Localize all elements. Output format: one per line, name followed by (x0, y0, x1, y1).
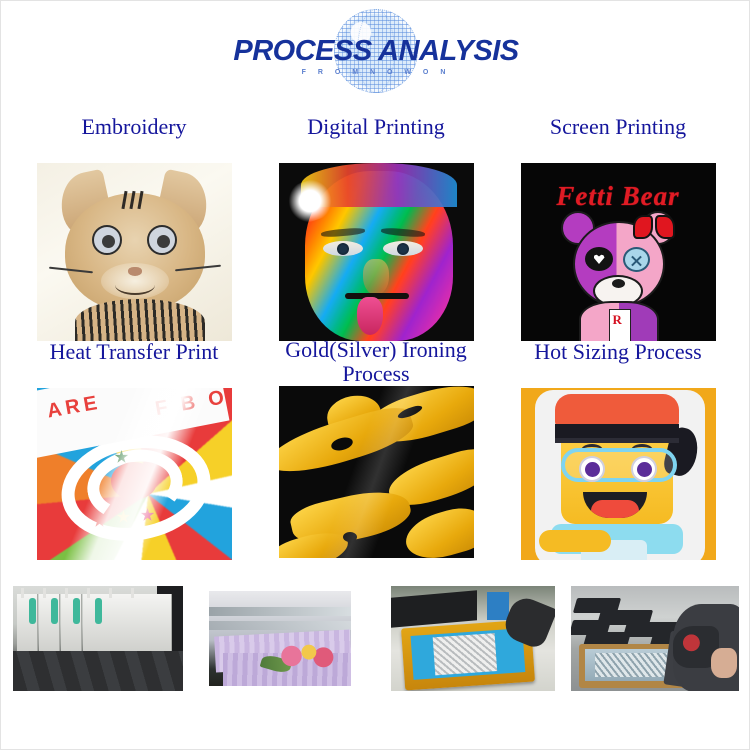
cat-eye-left (92, 225, 122, 255)
photo-blue-object (487, 592, 509, 620)
character-mouth (583, 492, 647, 518)
portrait-pupil (397, 243, 409, 255)
process-card-digital-printing[interactable]: Digital Printing (251, 113, 501, 341)
process-image-heat-transfer: ARE F B O (37, 388, 232, 560)
page-title: PROCESS ANALYSIS (216, 37, 536, 66)
fabric-fold-highlight (37, 388, 232, 560)
bear-bow-icon (633, 215, 675, 241)
character-cap (555, 394, 679, 426)
photo-fabric (13, 651, 183, 691)
portrait-pupil (337, 243, 349, 255)
character-eye-left (579, 456, 605, 482)
factory-photo-strip (1, 586, 750, 701)
portrait-nose (363, 259, 389, 295)
process-card-screen-printing[interactable]: Screen Printing Fetti Bear R (493, 113, 743, 341)
portrait-eye-right (383, 241, 423, 256)
photo-stencil-art (595, 653, 667, 677)
factory-photo-digital-printer[interactable] (209, 591, 351, 686)
portrait-lip (357, 297, 383, 335)
process-card-heat-transfer-print[interactable]: Heat Transfer Print ARE F B O (9, 338, 259, 560)
portrait-eye-left (323, 241, 363, 256)
bear-eye-left (585, 247, 613, 271)
process-title: Screen Printing (493, 113, 743, 163)
x-cross-icon (630, 254, 643, 267)
process-card-embroidery[interactable]: Embroidery (9, 113, 259, 341)
process-card-gold-ironing[interactable]: Gold(Silver) Ironing Process (251, 338, 501, 558)
heart-icon (594, 254, 605, 264)
character-glasses (561, 448, 677, 482)
factory-photo-screen-frame[interactable] (391, 586, 555, 691)
photo-worker-hand (711, 648, 737, 678)
character-eye-right (631, 456, 657, 482)
print-text-fetti-bear: Fetti Bear (521, 181, 716, 212)
process-image-screen-printing: Fetti Bear R (521, 163, 716, 341)
bear-badge: R (609, 309, 631, 341)
process-image-gold-ironing (279, 386, 474, 558)
character-headband-stripe (555, 438, 679, 443)
brand-logo: PROCESS ANALYSIS F R O M N O W O N (216, 9, 536, 97)
fabric-sheen (279, 386, 474, 558)
character-arm (539, 530, 611, 552)
cat-pupil (157, 235, 170, 248)
process-card-hot-sizing[interactable]: Hot Sizing Process (493, 338, 743, 560)
character-iris (585, 462, 600, 477)
cat-mouth (115, 275, 155, 295)
process-image-embroidery (37, 163, 232, 341)
photo-stencil-art (433, 633, 497, 675)
photo-print-flower (277, 643, 335, 669)
process-title: Heat Transfer Print (9, 338, 259, 388)
process-title: Gold(Silver) Ironing Process (251, 338, 501, 386)
cat-pupil (102, 235, 115, 248)
character-tongue (591, 500, 639, 518)
process-image-hot-sizing (521, 388, 716, 560)
character-iris (637, 462, 652, 477)
process-title: Digital Printing (251, 113, 501, 163)
process-analysis-page: PROCESS ANALYSIS F R O M N O W O N Embro… (0, 0, 750, 750)
page-header: PROCESS ANALYSIS F R O M N O W O N (1, 1, 750, 101)
factory-photo-worker-printing[interactable] (571, 586, 739, 691)
process-grid: Embroidery Digital Printing (1, 101, 750, 571)
page-subtitle: F R O M N O W O N (216, 69, 536, 76)
process-title: Hot Sizing Process (493, 338, 743, 388)
cat-chest (75, 299, 205, 341)
photo-screen-mesh (411, 628, 526, 680)
factory-photo-embroidery-machines[interactable] (13, 586, 183, 691)
process-title: Embroidery (9, 113, 259, 163)
bear-nose (612, 279, 625, 288)
bear-eye-right (623, 247, 650, 272)
character-headband (555, 424, 679, 438)
process-image-digital-printing (279, 163, 474, 341)
cat-eye-right (147, 225, 177, 255)
